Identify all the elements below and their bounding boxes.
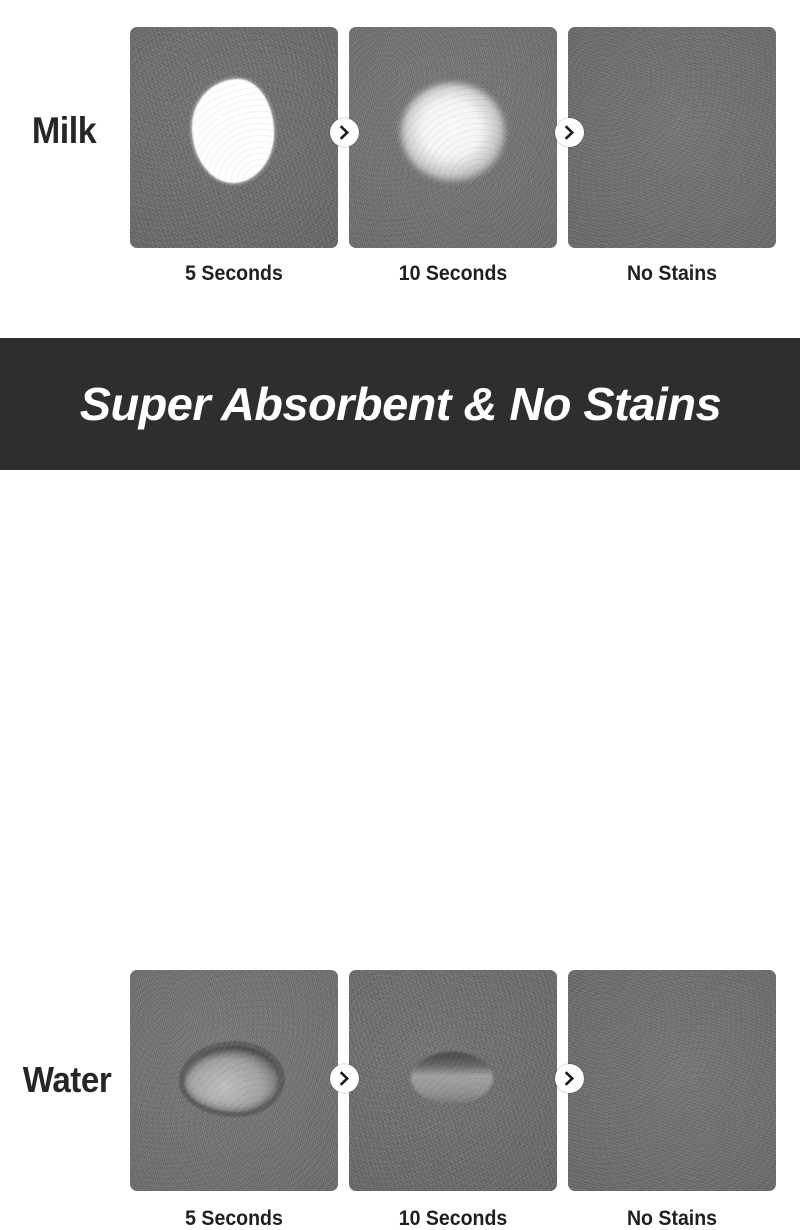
panel-strip-milk bbox=[130, 27, 776, 248]
sample-panel-milk-clean bbox=[568, 27, 776, 248]
caption-strip-milk: 5 Seconds 10 Seconds No Stains bbox=[130, 263, 776, 284]
headline-banner: Super Absorbent & No Stains bbox=[0, 338, 800, 470]
stain-milk-absorbed-patch bbox=[401, 83, 505, 181]
chevron-right-icon bbox=[555, 118, 584, 147]
sample-panel-water-10s bbox=[349, 970, 557, 1191]
sample-panel-milk-10s bbox=[349, 27, 557, 248]
caption-water-clean: No Stains bbox=[575, 1208, 768, 1229]
caption-milk-clean: No Stains bbox=[575, 263, 768, 284]
sample-panel-water-clean bbox=[568, 970, 776, 1191]
chevron-right-icon bbox=[555, 1064, 584, 1093]
demo-row-water: Water 5 Seconds 10 Seconds No Stains bbox=[0, 470, 800, 800]
sample-panel-water-5s bbox=[130, 970, 338, 1191]
stain-water-flat-residue bbox=[411, 1052, 493, 1104]
caption-strip-water: 5 Seconds 10 Seconds No Stains bbox=[130, 1208, 776, 1229]
caption-milk-5s: 5 Seconds bbox=[137, 263, 330, 284]
caption-water-5s: 5 Seconds bbox=[137, 1208, 330, 1229]
stain-water-bead-droplet bbox=[184, 1046, 280, 1112]
demo-row-milk: Milk 5 Seconds 10 Seconds No Stains bbox=[0, 0, 800, 338]
sample-panel-milk-5s bbox=[130, 27, 338, 248]
panel-strip-water bbox=[130, 970, 776, 1191]
row-title-water: Water bbox=[7, 1062, 127, 1098]
chevron-right-icon bbox=[330, 1064, 359, 1093]
chevron-right-icon bbox=[330, 118, 359, 147]
row-title-milk: Milk bbox=[5, 112, 123, 149]
caption-milk-10s: 10 Seconds bbox=[356, 263, 549, 284]
headline-text: Super Absorbent & No Stains bbox=[79, 381, 720, 427]
stain-milk-fresh-blob bbox=[192, 79, 274, 183]
caption-water-10s: 10 Seconds bbox=[356, 1208, 549, 1229]
